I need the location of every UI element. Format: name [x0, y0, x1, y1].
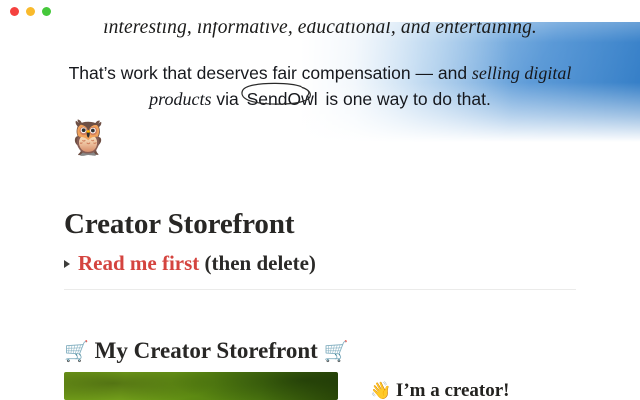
minimize-button-icon[interactable]	[26, 7, 35, 16]
creator-callout[interactable]: 👋 I’m a creator!	[370, 378, 510, 400]
traffic-lights	[10, 7, 51, 16]
owl-icon: 🦉	[67, 118, 109, 158]
body-paragraph: That’s work that deserves fair compensat…	[64, 60, 576, 112]
toggle-label-rest: (then delete)	[199, 251, 316, 275]
close-button-icon[interactable]	[10, 7, 19, 16]
toggle-read-me-first[interactable]: Read me first (then delete)	[64, 249, 316, 277]
app-window: interesting, informative, educational, a…	[0, 0, 640, 400]
toggle-label: Read me first (then delete)	[78, 249, 316, 277]
shopping-cart-icon-left: 🛒	[64, 341, 89, 363]
waving-hand-icon: 👋	[370, 381, 391, 400]
toggle-label-accent: Read me first	[78, 251, 199, 275]
maximize-button-icon[interactable]	[42, 7, 51, 16]
document-canvas[interactable]: interesting, informative, educational, a…	[0, 0, 640, 400]
sendowl-link[interactable]: SendOwl	[244, 86, 321, 112]
paragraph-part-3: is one way to do that.	[321, 89, 491, 109]
section-heading[interactable]: 🛒 My Creator Storefront 🛒	[64, 335, 348, 368]
page-title[interactable]: Creator Storefront	[64, 205, 294, 243]
paragraph-part-2: via	[211, 89, 243, 109]
sendowl-label: SendOwl	[247, 89, 318, 109]
shopping-cart-icon-right: 🛒	[324, 341, 349, 363]
section-heading-text: My Creator Storefront	[95, 338, 318, 363]
window-titlebar	[0, 0, 640, 22]
creator-callout-text: I’m a creator!	[396, 380, 510, 400]
paragraph-part-1: That’s work that deserves fair compensat…	[69, 63, 472, 83]
section-divider	[64, 289, 576, 290]
storefront-photo-card[interactable]	[64, 372, 338, 400]
chevron-right-icon[interactable]	[64, 260, 70, 268]
